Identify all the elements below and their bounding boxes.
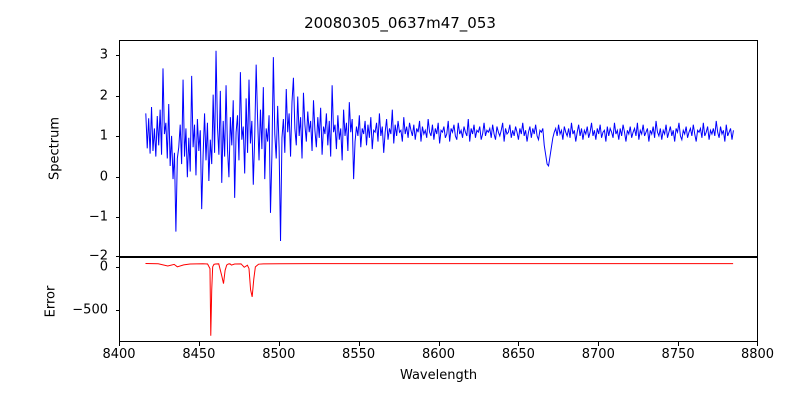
xtick-mark: [359, 342, 360, 346]
xtick-mark: [518, 342, 519, 346]
xtick-label: 8650: [488, 347, 548, 362]
xtick-mark: [678, 342, 679, 346]
xtick-label: 8550: [329, 347, 389, 362]
spectrum-ytick-label: 0: [56, 170, 108, 185]
xtick-label: 8600: [409, 347, 469, 362]
error-ytick-mark: [116, 267, 120, 268]
error-ytick-mark: [116, 310, 120, 311]
error-ytick-label: 0: [56, 260, 108, 275]
xtick-label: 8800: [728, 347, 788, 362]
xtick-label: 8400: [89, 347, 149, 362]
xtick-mark: [119, 342, 120, 346]
xtick-mark: [598, 342, 599, 346]
spectrum-ytick-mark: [116, 55, 120, 56]
xtick-label: 8700: [568, 347, 628, 362]
xtick-label: 8500: [249, 347, 309, 362]
xtick-mark: [199, 342, 200, 346]
spectrum-ytick-label: 2: [56, 89, 108, 104]
error-ytick-label: −500: [26, 303, 108, 318]
xtick-label: 8450: [169, 347, 229, 362]
spectrum-plot-area: [119, 40, 758, 257]
error-line-series: [120, 258, 757, 341]
page-title: 20080305_0637m47_053: [0, 14, 800, 32]
xtick-mark: [439, 342, 440, 346]
spectrum-ytick-mark: [116, 96, 120, 97]
xtick-mark: [757, 342, 758, 346]
spectrum-line-series: [120, 41, 757, 256]
spectrum-ytick-mark: [116, 136, 120, 137]
spectrum-axis-label: Spectrum: [48, 89, 63, 209]
xtick-label: 8750: [648, 347, 708, 362]
spectrum-ytick-mark: [116, 177, 120, 178]
spectrum-ytick-mark: [116, 217, 120, 218]
matplotlib-figure: 20080305_0637m47_053 Spectrum 3 2 1 0 −1…: [0, 0, 800, 400]
spectrum-ytick-label: −1: [56, 210, 108, 225]
error-plot-area: [119, 257, 758, 342]
x-axis-label: Wavelength: [119, 368, 758, 383]
spectrum-ytick-label: 3: [56, 48, 108, 63]
spectrum-ytick-label: 1: [56, 129, 108, 144]
xtick-mark: [279, 342, 280, 346]
